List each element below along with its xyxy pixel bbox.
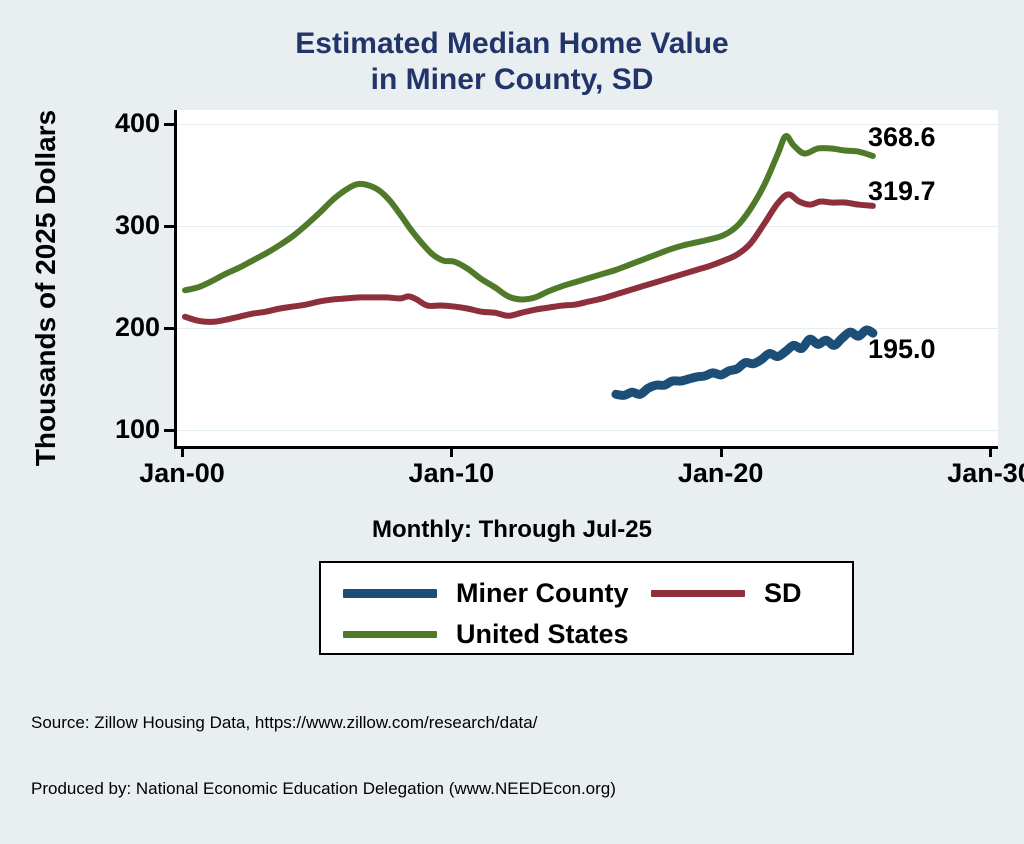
y-tick-label-400: 400 [70,110,160,137]
x-tick-mark-Jan-20 [720,446,723,457]
chart-title-line-1: Estimated Median Home Value [295,27,728,60]
series-line-miner-county [616,330,873,395]
footer-source: Source: Zillow Housing Data, https://www… [31,712,616,734]
legend-swatch-sd [651,590,745,597]
x-tick-label-Jan-20: Jan-20 [641,458,801,488]
footer-producer: Produced by: National Economic Education… [31,778,616,800]
legend-label-sd: SD [764,580,802,607]
y-tick-label-200: 200 [70,314,160,341]
chart-root: Estimated Median Home Value in Miner Cou… [0,0,1024,745]
chart-legend: Miner County SD United States [319,561,854,655]
legend-item-sd[interactable]: SD [651,580,802,607]
x-tick-mark-Jan-00 [181,446,184,457]
plot-canvas [177,110,998,446]
end-label-miner-county: 195.0 [868,336,936,363]
legend-item-united-states[interactable]: United States [343,621,629,648]
x-axis-note: Monthly: Through Jul-25 [0,516,1024,544]
y-tick-mark-200 [164,327,174,330]
end-label-sd: 319.7 [868,178,936,205]
plot-area [174,110,998,449]
legend-label-miner-county: Miner County [456,580,629,607]
x-tick-label-Jan-30: Jan-30 [910,458,1024,488]
x-tick-label-Jan-10: Jan-10 [371,458,531,488]
y-tick-mark-100 [164,429,174,432]
page-title: Estimated Median Home Value in Miner Cou… [0,26,1024,98]
legend-swatch-miner-county [343,589,437,598]
footer-notes: Source: Zillow Housing Data, https://www… [31,668,616,844]
legend-item-miner-county[interactable]: Miner County [343,580,629,607]
legend-swatch-united-states [343,631,437,638]
chart-title-line-2: in Miner County, SD [0,62,1024,98]
y-tick-mark-300 [164,225,174,228]
legend-label-united-states: United States [456,621,629,648]
series-line-sd [185,194,873,322]
x-tick-mark-Jan-30 [989,446,992,457]
series-svg [177,110,998,446]
y-tick-mark-400 [164,123,174,126]
end-label-united-states: 368.6 [868,124,936,151]
y-tick-label-300: 300 [70,212,160,239]
x-tick-label-Jan-00: Jan-00 [102,458,262,488]
x-tick-mark-Jan-10 [450,446,453,457]
y-tick-label-100: 100 [70,416,160,443]
y-axis-title: Thousands of 2025 Dollars [30,88,62,488]
